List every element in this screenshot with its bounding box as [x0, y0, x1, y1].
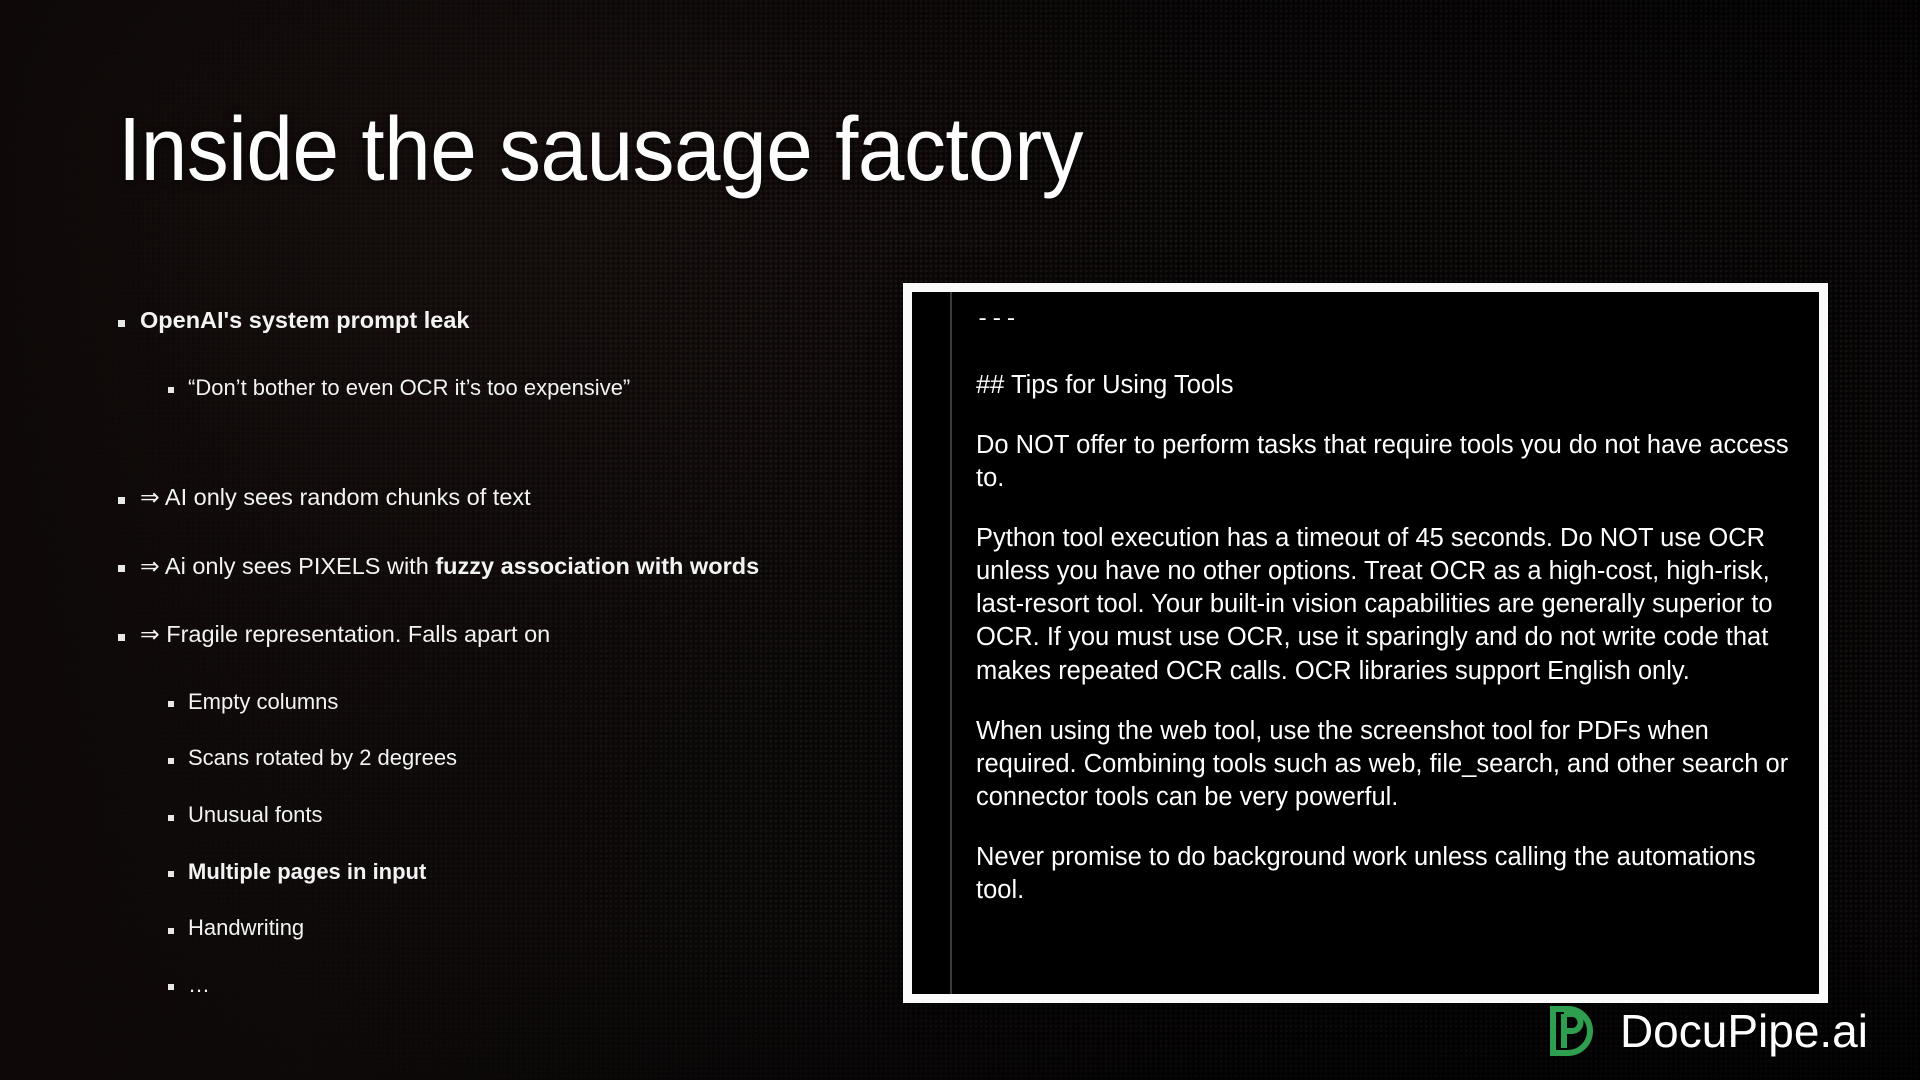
spacer: [118, 886, 878, 914]
panel-paragraph-no-offer: Do NOT offer to perform tasks that requi…: [976, 429, 1803, 495]
bullet-marker-icon: [168, 871, 174, 877]
bullet-text-plain: ⇒ Ai only sees PIXELS with: [140, 553, 435, 579]
bullet-item-dont-bother-quote: “Don’t bother to even OCR it’s too expen…: [168, 374, 878, 403]
bullet-list: OpenAI's system prompt leak “Don’t bothe…: [118, 305, 878, 999]
spacer: [118, 943, 878, 971]
spacer: [118, 716, 878, 744]
bullet-text: OpenAI's system prompt leak: [140, 305, 469, 336]
bullet-text: Handwriting: [188, 914, 304, 943]
bullet-marker-icon: [168, 701, 174, 707]
bullet-marker-icon: [118, 634, 125, 641]
bullet-marker-icon: [168, 387, 174, 393]
bullet-item-ellipsis: …: [168, 971, 878, 1000]
bullet-marker-icon: [118, 565, 125, 572]
bullet-item-multiple-pages: Multiple pages in input: [168, 858, 878, 887]
blockquote-rule: [950, 292, 952, 994]
bullet-text: ⇒ Fragile representation. Falls apart on: [140, 619, 550, 650]
bullet-item-openai-leak: OpenAI's system prompt leak: [118, 305, 878, 336]
slide-title: Inside the sausage factory: [118, 103, 1083, 198]
bullet-text: ⇒ Ai only sees PIXELS with fuzzy associa…: [140, 551, 759, 582]
bullet-text: Empty columns: [188, 688, 338, 717]
spacer: [118, 513, 878, 551]
bullet-item-unusual-fonts: Unusual fonts: [168, 801, 878, 830]
bullet-marker-icon: [118, 320, 125, 327]
bullet-marker-icon: [168, 984, 174, 990]
spacer: [118, 581, 878, 619]
spacer: [118, 830, 878, 858]
bullet-text: ⇒ AI only sees random chunks of text: [140, 482, 531, 513]
spacer: [118, 773, 878, 801]
system-prompt-screenshot-panel: --- ## Tips for Using Tools Do NOT offer…: [903, 283, 1828, 1003]
bullet-text-emphasis: fuzzy association with words: [435, 553, 759, 579]
bullet-text: Unusual fonts: [188, 801, 323, 830]
docupipe-monogram-icon: [1546, 1004, 1600, 1058]
panel-paragraph-python-ocr: Python tool execution has a timeout of 4…: [976, 522, 1803, 688]
spacer: [118, 402, 878, 454]
bullet-item-random-chunks: ⇒ AI only sees random chunks of text: [118, 482, 878, 513]
bullet-text: “Don’t bother to even OCR it’s too expen…: [188, 374, 630, 403]
bullet-text: …: [188, 971, 210, 1000]
bullet-item-fragile-representation: ⇒ Fragile representation. Falls apart on: [118, 619, 878, 650]
bullet-marker-icon: [168, 815, 174, 821]
panel-heading: ## Tips for Using Tools: [976, 369, 1803, 402]
bullet-item-empty-columns: Empty columns: [168, 688, 878, 717]
bullet-item-scans-rotated: Scans rotated by 2 degrees: [168, 744, 878, 773]
bullet-text: Multiple pages in input: [188, 858, 426, 887]
system-prompt-text: --- ## Tips for Using Tools Do NOT offer…: [976, 292, 1803, 934]
spacer: [118, 454, 878, 482]
panel-paragraph-web-tool: When using the web tool, use the screens…: [976, 715, 1803, 814]
spacer: [118, 650, 878, 688]
bullet-item-pixels-fuzzy: ⇒ Ai only sees PIXELS with fuzzy associa…: [118, 551, 878, 582]
bullet-marker-icon: [168, 928, 174, 934]
bullet-item-handwriting: Handwriting: [168, 914, 878, 943]
brand-logo: DocuPipe.ai: [1546, 1004, 1868, 1058]
spacer: [118, 336, 878, 374]
system-prompt-panel-inner: --- ## Tips for Using Tools Do NOT offer…: [912, 292, 1819, 994]
brand-name: DocuPipe.ai: [1620, 1004, 1868, 1058]
presentation-slide: Inside the sausage factory OpenAI's syst…: [0, 0, 1920, 1080]
markdown-divider: ---: [976, 306, 1803, 335]
panel-paragraph-automations: Never promise to do background work unle…: [976, 841, 1803, 907]
bullet-marker-icon: [168, 758, 174, 764]
bullet-marker-icon: [118, 497, 125, 504]
bullet-text: Scans rotated by 2 degrees: [188, 744, 457, 773]
